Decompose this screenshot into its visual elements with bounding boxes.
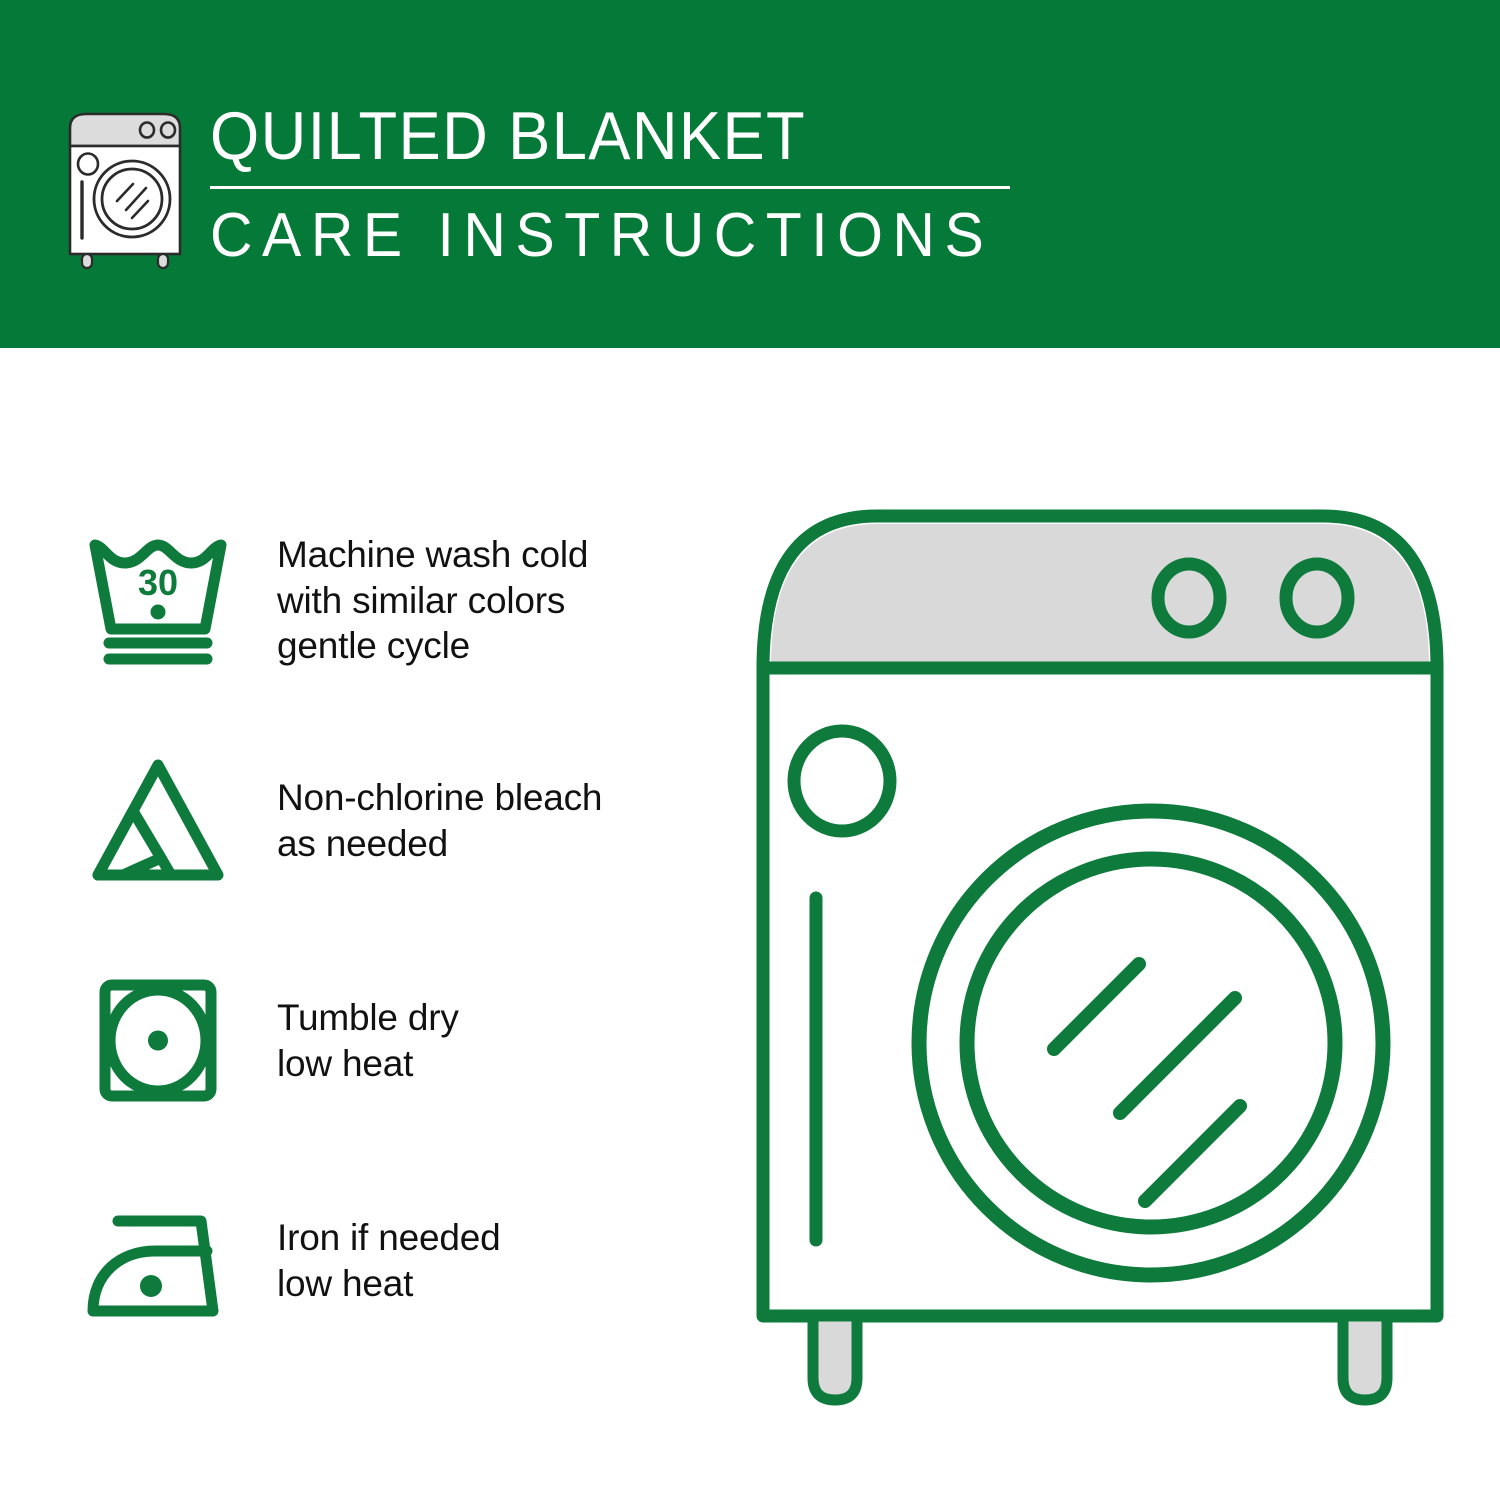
- washing-machine-illustration: [745, 498, 1455, 1418]
- content-area: 30 Machine wash cold with similar colors…: [0, 348, 1500, 1500]
- tumble-dry-low-icon: [70, 973, 245, 1108]
- list-item-label: Iron if needed low heat: [245, 1215, 500, 1306]
- header-banner: QUILTED BLANKET CARE INSTRUCTIONS: [0, 0, 1500, 348]
- list-item-line: low heat: [277, 1041, 459, 1087]
- washing-machine-icon: [60, 106, 190, 271]
- header-inner: QUILTED BLANKET CARE INSTRUCTIONS: [60, 96, 1034, 271]
- machine-leg-left: [813, 1316, 857, 1400]
- list-item-label: Non-chlorine bleach as needed: [245, 775, 602, 866]
- list-item: Tumble dry low heat: [70, 953, 710, 1128]
- list-item-label: Machine wash cold with similar colors ge…: [245, 532, 588, 669]
- list-item-line: Machine wash cold: [277, 532, 588, 578]
- non-chlorine-bleach-icon: [70, 753, 245, 888]
- iron-low-heat-icon: [70, 1193, 245, 1328]
- list-item-line: Iron if needed: [277, 1215, 500, 1261]
- list-item-line: low heat: [277, 1261, 500, 1307]
- list-item-label: Tumble dry low heat: [245, 995, 459, 1086]
- list-item-line: with similar colors: [277, 578, 588, 624]
- list-item-line: as needed: [277, 821, 602, 867]
- list-item: 30 Machine wash cold with similar colors…: [70, 513, 710, 688]
- list-item: Iron if needed low heat: [70, 1173, 710, 1348]
- care-instruction-list: 30 Machine wash cold with similar colors…: [70, 513, 710, 1348]
- list-item: Non-chlorine bleach as needed: [70, 733, 710, 908]
- title-divider: [210, 186, 1010, 189]
- list-item-line: Non-chlorine bleach: [277, 775, 602, 821]
- header-title-group: QUILTED BLANKET CARE INSTRUCTIONS: [210, 96, 1034, 267]
- page-title: QUILTED BLANKET: [210, 102, 977, 170]
- page-subtitle: CARE INSTRUCTIONS: [210, 205, 993, 267]
- list-item-line: Tumble dry: [277, 995, 459, 1041]
- machine-wash-30-gentle-icon: 30: [70, 533, 245, 668]
- machine-leg-right: [1343, 1316, 1387, 1400]
- wash-temperature-label: 30: [137, 562, 177, 603]
- list-item-line: gentle cycle: [277, 623, 588, 669]
